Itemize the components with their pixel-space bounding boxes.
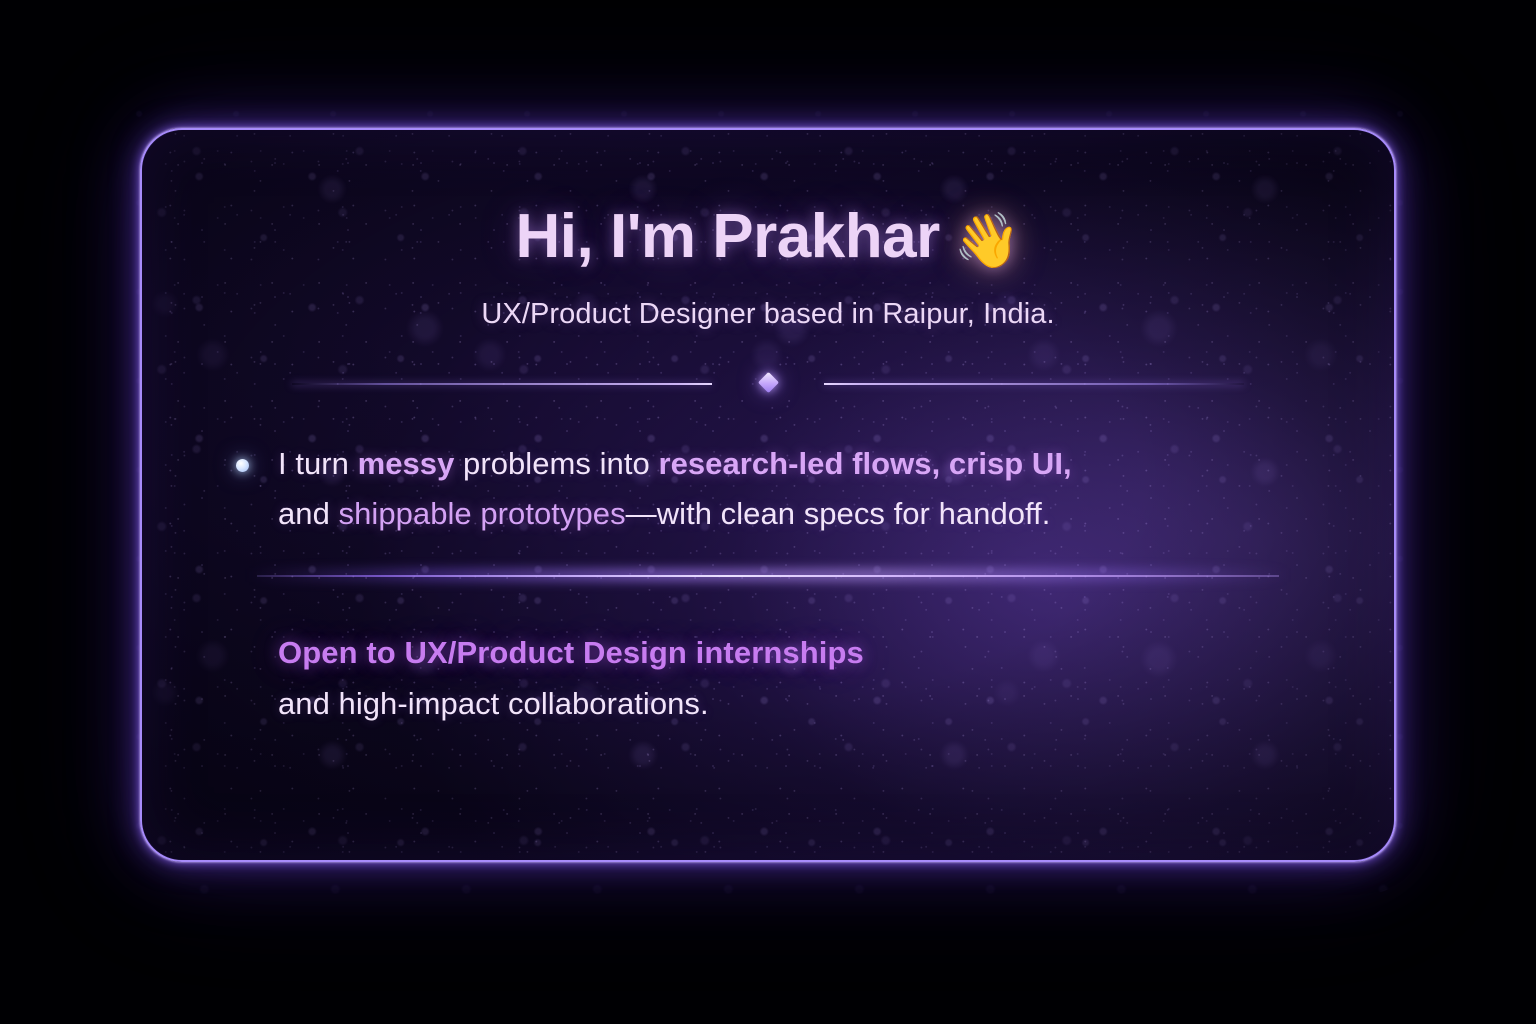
intro-seg-7: —with clean specs for handoff.	[626, 496, 1051, 531]
profile-card: Hi, I'm Prakhar👋 UX/Product Designer bas…	[140, 128, 1396, 862]
waving-hand-emoji: 👋	[954, 211, 1021, 271]
intro-line-2: and shippable prototypes—with clean spec…	[278, 489, 1318, 539]
card-content: Hi, I'm Prakhar👋 UX/Product Designer bas…	[142, 130, 1394, 860]
diamond-ornament-icon	[757, 372, 778, 393]
subtitle: UX/Product Designer based in Raipur, Ind…	[202, 298, 1334, 331]
availability-subline: and high-impact collaborations.	[278, 682, 1318, 727]
intro-seg-3: problems into	[454, 446, 658, 481]
divider-bar-left	[292, 383, 712, 385]
divider-with-diamond	[292, 375, 1244, 393]
page-title-text: Hi, I'm Prakhar	[516, 202, 940, 271]
availability-headline: Open to UX/Product Design internships	[278, 631, 1318, 676]
screenshot-stage: Hi, I'm Prakhar👋 UX/Product Designer bas…	[0, 0, 1536, 1024]
intro-seg-5: and	[278, 496, 339, 531]
page-title: Hi, I'm Prakhar👋	[202, 204, 1334, 270]
divider-bar-right	[824, 383, 1244, 385]
availability-block: Open to UX/Product Design internships an…	[218, 631, 1318, 727]
intro-line-1: I turn messy problems into research-led …	[278, 439, 1318, 489]
intro-seg-6-highlight: shippable prototypes	[339, 496, 626, 531]
bullet-dot-icon	[236, 459, 249, 472]
divider-glow-bar	[257, 573, 1279, 579]
intro-bullet: I turn messy problems into research-led …	[218, 439, 1318, 539]
intro-seg-1: I turn	[278, 446, 358, 481]
divider-glow-core	[257, 575, 1279, 577]
intro-seg-2-highlight: messy	[358, 446, 455, 481]
intro-seg-4-highlight: research-led flows, crisp UI,	[658, 446, 1071, 481]
